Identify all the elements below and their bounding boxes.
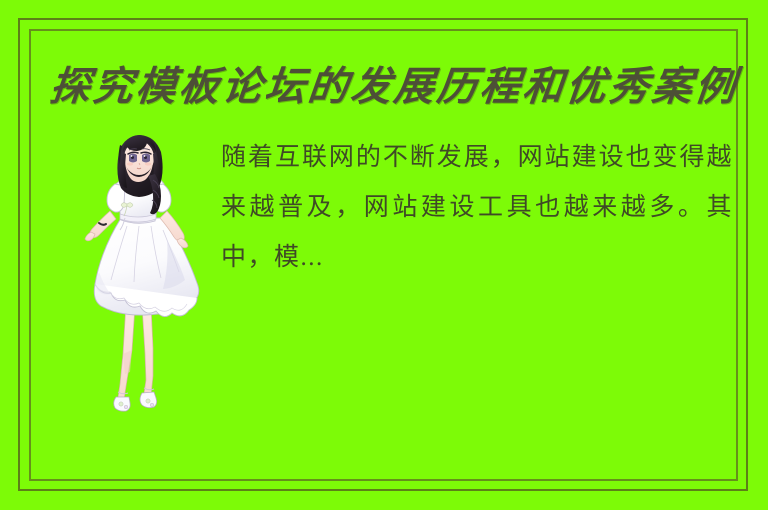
article-excerpt: 随着互联网的不断发展，网站建设也变得越来越普及，网站建设工具也越来越多。其中，模… [221,133,733,283]
anime-girl-svg [63,122,215,422]
poster-canvas: 探究模板论坛的发展历程和优秀案例 随着互联网的不断发展，网站建设也变得越来越普及… [0,0,768,510]
page-title: 探究模板论坛的发展历程和优秀案例 [47,60,723,114]
legs [118,304,153,399]
anime-girl-illustration [63,122,215,422]
